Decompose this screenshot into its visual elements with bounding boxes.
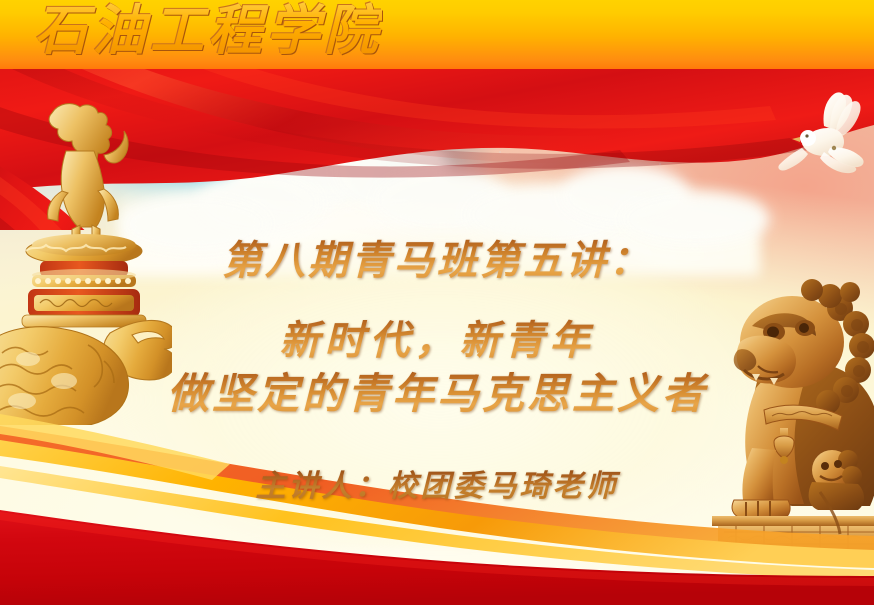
white-dove <box>772 90 868 186</box>
institution-title: 石油工程学院 <box>34 0 382 64</box>
golden-ribbon-bands <box>0 400 874 605</box>
presentation-slide: 第八期青马班第五讲： 新时代，新青年 做坚定的青年马克思主义者 主讲人：校团委马… <box>0 0 874 605</box>
huabiao-ornamental-column <box>0 95 172 425</box>
